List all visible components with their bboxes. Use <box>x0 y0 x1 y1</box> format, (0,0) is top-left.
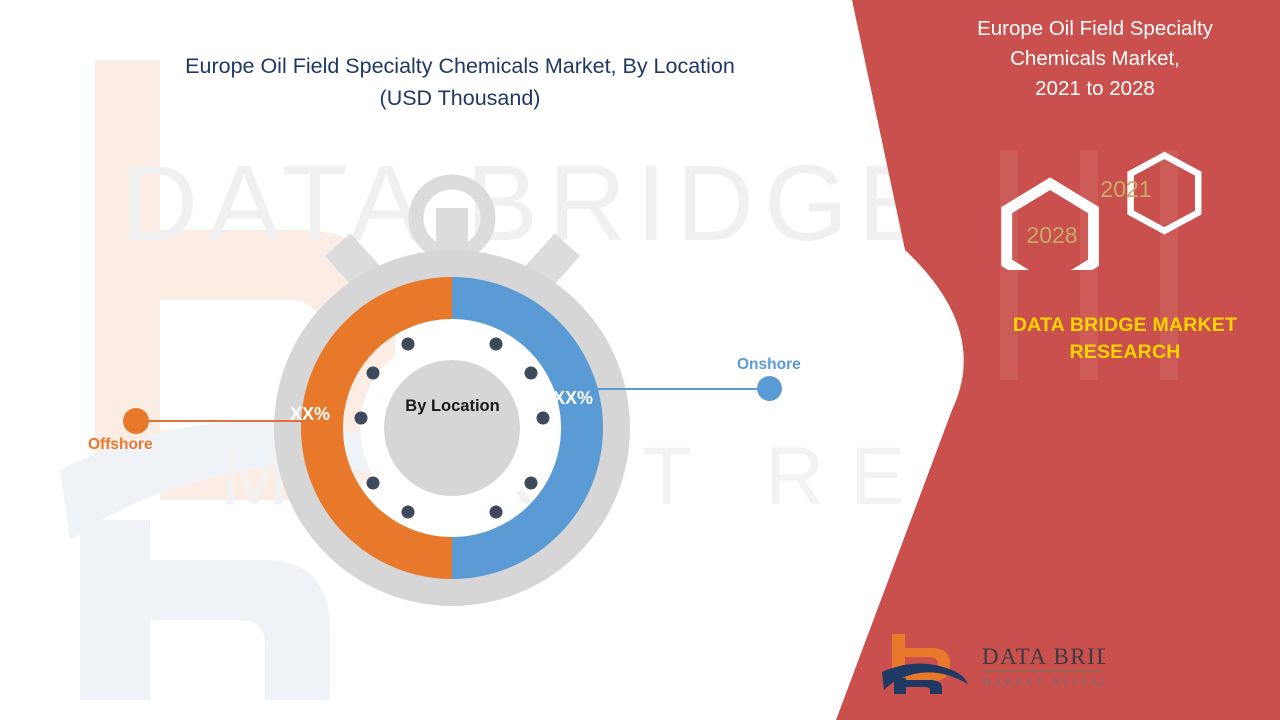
hexagon-2028-label: 2028 <box>1026 222 1077 248</box>
panel-title-line1: Europe Oil Field Specialty <box>930 14 1260 44</box>
year-hexagons-svg: 2028 2021 <box>985 145 1215 270</box>
dbmr-logo: DATA BRIDGE MARKET RESEARCH <box>880 630 1105 696</box>
logo-b-mark-icon <box>882 634 968 694</box>
year-hexagons: 2028 2021 <box>985 145 1215 270</box>
logo-tagline: MARKET RESEARCH <box>983 677 1105 687</box>
brand-name-line1: DATA BRIDGE MARKET <box>975 312 1275 339</box>
hexagon-2021-label: 2021 <box>1100 176 1151 202</box>
panel-title-line3: 2021 to 2028 <box>930 74 1260 104</box>
dbmr-logo-svg: DATA BRIDGE MARKET RESEARCH <box>880 630 1105 696</box>
logo-name: DATA BRIDGE <box>982 644 1105 669</box>
infographic-canvas: DATA BRIDGE MARKET RESEARCH Europe Oil F… <box>0 0 1280 720</box>
brand-name-line2: RESEARCH <box>975 339 1275 366</box>
panel-title: Europe Oil Field Specialty Chemicals Mar… <box>930 14 1260 104</box>
panel-title-line2: Chemicals Market, <box>930 44 1260 74</box>
brand-name: DATA BRIDGE MARKET RESEARCH <box>975 312 1275 366</box>
